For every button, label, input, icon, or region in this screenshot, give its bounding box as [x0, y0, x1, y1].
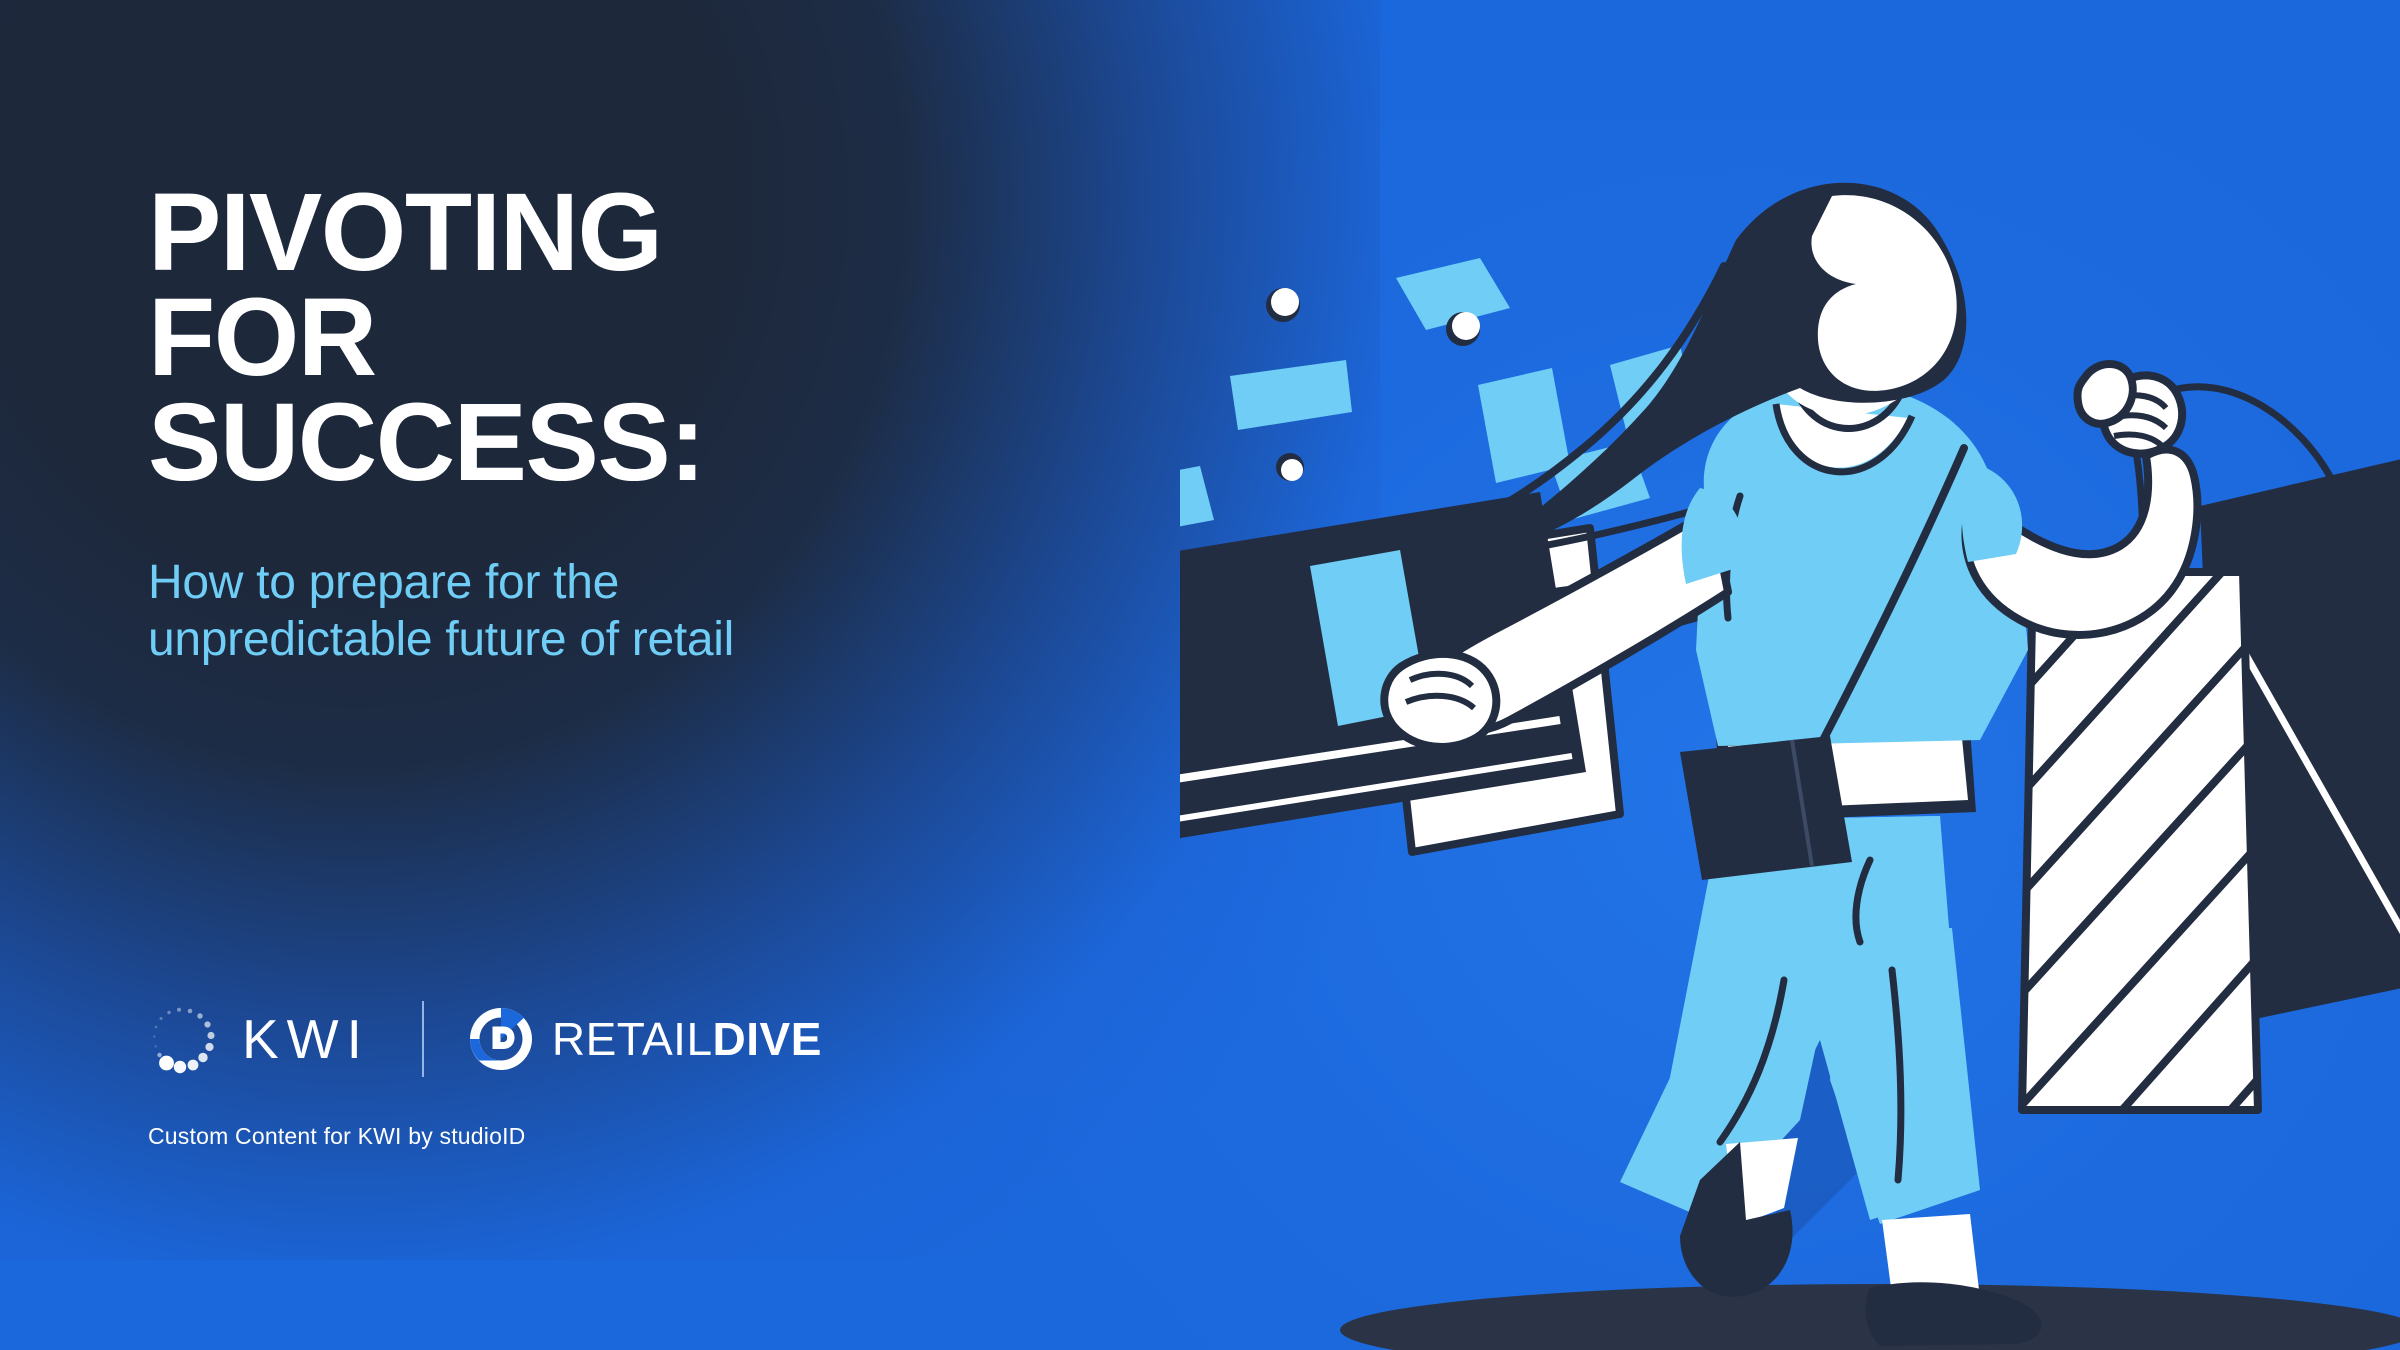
page-title: PIVOTING FOR SUCCESS: [148, 180, 1148, 495]
headline-line-2: FOR [148, 285, 1148, 390]
confetti-group [1180, 258, 1694, 534]
retail-dive-circle-d-icon [470, 1008, 532, 1070]
retail-dive-word-bold: DIVE [713, 1016, 822, 1062]
confetti-rect-6 [1180, 466, 1214, 534]
right-arm [1962, 364, 2197, 635]
retail-dive-word-light: RETAIL [552, 1016, 713, 1062]
crossbody-purse [1680, 736, 1852, 880]
retail-dive-logo: RETAILDIVE [470, 1008, 822, 1070]
confetti-dot-b [1446, 312, 1480, 346]
kwi-logo: KWI [148, 1003, 370, 1075]
credit-line: Custom Content for KWI by studioID [148, 1123, 526, 1150]
confetti-rect-3 [1230, 360, 1352, 430]
headline-line-1: PIVOTING [148, 180, 1148, 285]
kwi-dot-ring-icon [148, 1003, 220, 1075]
subhead-line-2: unpredictable future of retail [148, 612, 1148, 669]
copy-block: PIVOTING FOR SUCCESS: How to prepare for… [148, 180, 1148, 668]
subhead-line-1: How to prepare for the [148, 555, 1148, 612]
confetti-dot-c [1276, 453, 1304, 481]
logo-lockup: KWI RETAILDIVE [148, 995, 822, 1083]
left-hand [1384, 654, 1496, 747]
kwi-wordmark: KWI [242, 1012, 370, 1067]
retail-dive-wordmark: RETAILDIVE [552, 1016, 822, 1062]
confetti-dot-group [1180, 180, 1480, 481]
poster-canvas: PIVOTING FOR SUCCESS: How to prepare for… [0, 0, 2400, 1350]
headline-line-3: SUCCESS: [148, 390, 1148, 495]
front-foot [1865, 1214, 2041, 1346]
page-subtitle: How to prepare for the unpredictable fut… [148, 495, 1148, 668]
right-hand [2077, 364, 2182, 454]
woman-shopping-illustration [1180, 180, 2400, 1350]
logo-divider [422, 1001, 424, 1077]
confetti-dot-a [1266, 288, 1300, 322]
front-leg [1830, 928, 1980, 1224]
